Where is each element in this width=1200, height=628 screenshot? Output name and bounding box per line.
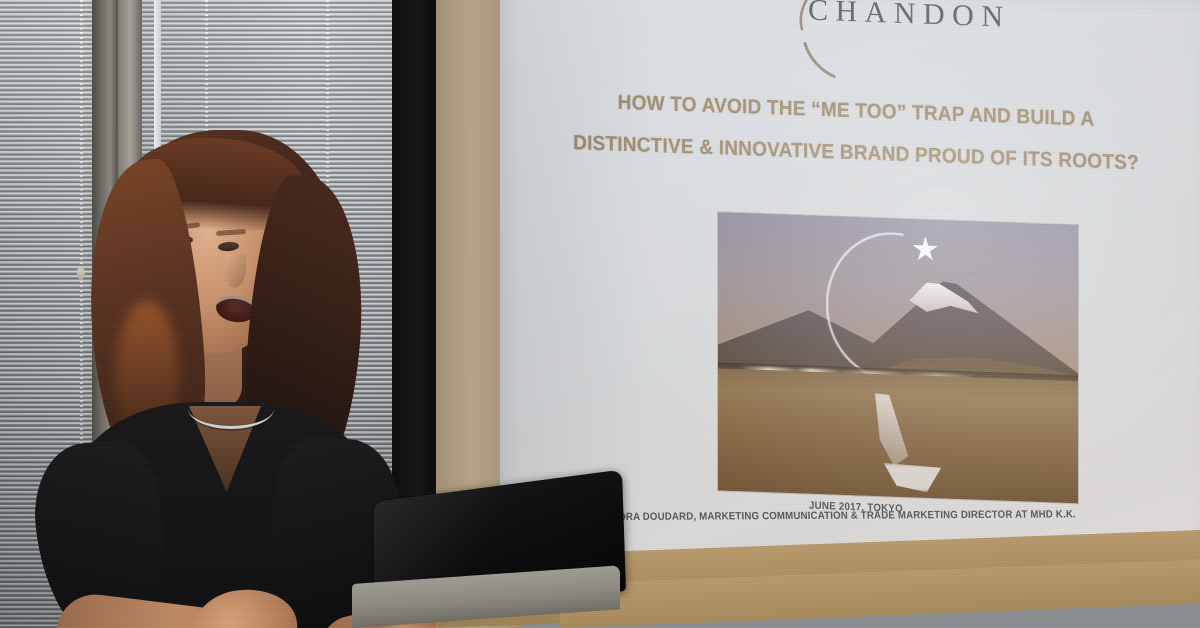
photo-projection-haze [718,212,1078,503]
chandon-logo: CHANDON [708,0,1068,87]
slide-title-line-2: DISTINCTIVE & INNOVATIVE BRAND PROUD OF … [525,129,1187,177]
presenter-necklace [188,388,274,429]
presenter-person [20,120,420,628]
screenshot-root: CHANDON HOW TO AVOID THE “ME TOO” TRAP A… [0,0,1200,628]
slide-title-line-1: HOW TO AVOID THE “ME TOO” TRAP AND BUILD… [525,87,1187,135]
slide-photo-mount-fuji [718,212,1078,503]
